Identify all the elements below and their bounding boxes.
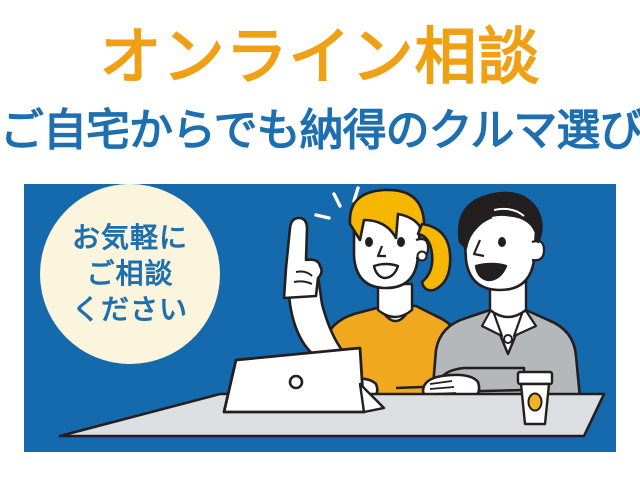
online-consultation-banner: オンライン相談 ご自宅からでも納得のクルマ選びを: [0, 0, 640, 480]
man-figure: [423, 193, 580, 398]
badge-line-2: ご相談: [86, 256, 173, 292]
laptop-logo-icon: [290, 376, 302, 388]
laptop: [224, 348, 384, 412]
page-title: オンライン相談: [0, 22, 640, 94]
badge-line-3: ください: [72, 292, 188, 328]
consultation-badge: お気軽に ご相談 ください: [40, 184, 220, 364]
badge-line-1: お気軽に: [72, 220, 188, 256]
illustration-panel: お気軽に ご相談 ください: [24, 184, 616, 452]
page-subtitle: ご自宅からでも納得のクルマ選びを: [0, 104, 640, 158]
cup-logo-icon: [529, 394, 542, 411]
coffee-cup: [518, 372, 552, 424]
